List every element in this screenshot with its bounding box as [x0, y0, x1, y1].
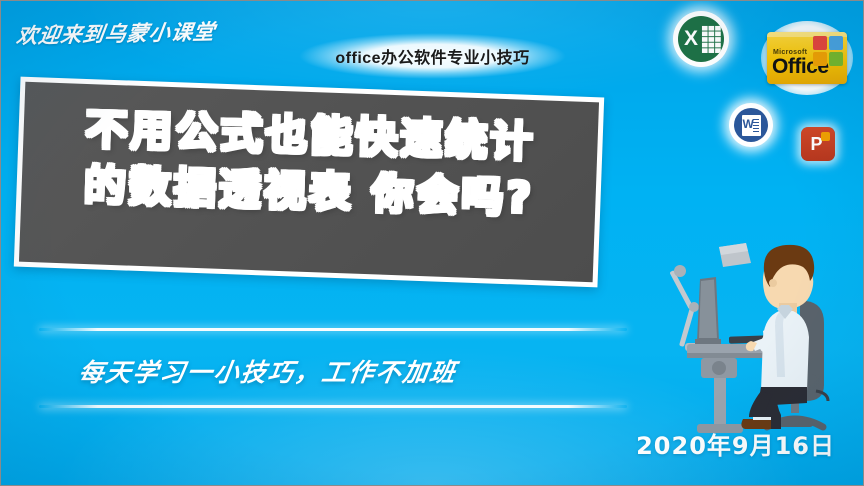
excel-icon-letter: X [684, 27, 698, 51]
office-logo[interactable]: Microsoft Office [761, 21, 853, 95]
office-logo-card: Microsoft Office [767, 32, 847, 84]
excel-icon[interactable]: X [673, 11, 729, 67]
office-quadrant-icon [813, 36, 843, 66]
office-quad-green [829, 52, 843, 66]
subtitle-text: office办公软件专业小技巧 [284, 37, 581, 75]
divider-line-top [39, 328, 627, 331]
office-quad-red [813, 36, 827, 50]
office-quad-blue [829, 36, 843, 50]
divider-line-bottom [39, 405, 627, 408]
tagline-text: 每天学习一小技巧，工作不加班 [76, 353, 459, 389]
welcome-text: 欢迎来到乌蒙小课堂 [15, 16, 218, 50]
excel-icon-grid [701, 25, 721, 53]
man-at-desk-illustration [601, 241, 864, 446]
excel-icon-body: X [678, 16, 724, 62]
monitor-icon [695, 277, 721, 345]
title-board-surface: 不用公式也能快速统计 的数据透视表 你会吗? [19, 82, 599, 282]
powerpoint-icon-accent [821, 132, 830, 141]
word-icon-lines [753, 119, 759, 133]
office-quad-orange [813, 52, 827, 66]
title-text: 不用公式也能快速统计 的数据透视表 你会吗? [21, 100, 598, 228]
slide-canvas: 欢迎来到乌蒙小课堂 office办公软件专业小技巧 不用公式也能快速统计 的数据… [0, 0, 864, 486]
title-board: 不用公式也能快速统计 的数据透视表 你会吗? [14, 77, 604, 288]
powerpoint-icon[interactable]: P [801, 127, 835, 161]
word-icon-body: W [734, 108, 768, 142]
subtitle-banner: office办公软件专业小技巧 [284, 37, 581, 75]
word-icon-page: W [742, 115, 761, 136]
word-icon[interactable]: W [729, 103, 773, 147]
